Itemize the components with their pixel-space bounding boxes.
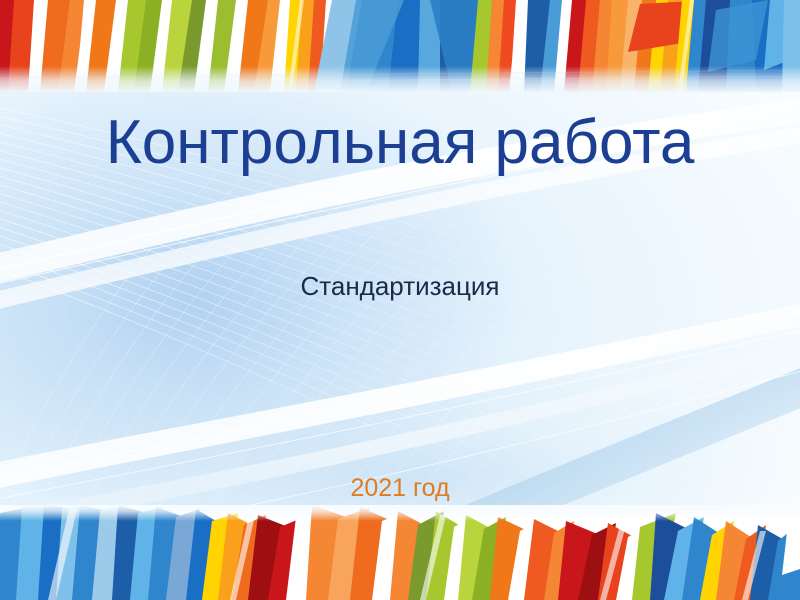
slide-title: Контрольная работа bbox=[0, 110, 800, 175]
presentation-slide: Контрольная работа Стандартизация 2021 г… bbox=[0, 0, 800, 600]
decorative-ribbon-top bbox=[0, 0, 800, 92]
slide-subtitle: Стандартизация bbox=[0, 271, 800, 302]
decorative-ribbon-bottom bbox=[0, 505, 800, 600]
slide-year: 2021 год bbox=[0, 474, 800, 503]
bottom-band-shards bbox=[0, 505, 800, 600]
top-band-shards bbox=[0, 0, 800, 92]
